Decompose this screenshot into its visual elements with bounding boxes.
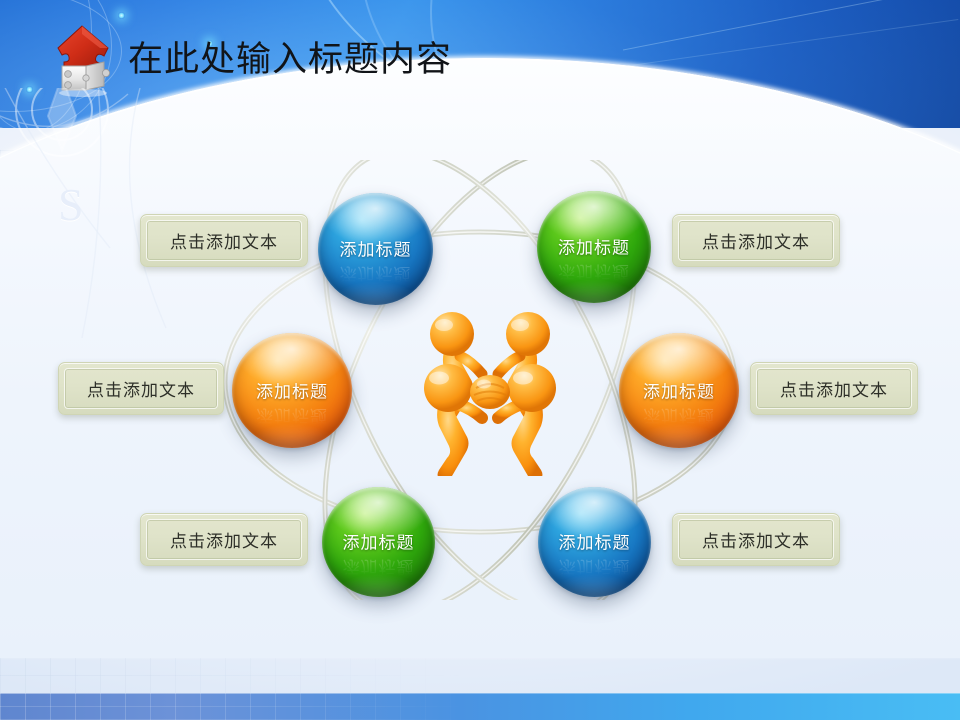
node-top-right-label-reflection: 添加标题 [537,261,651,286]
header-sparkle-2 [26,86,33,93]
header-arc-3 [430,0,960,128]
compass-letter-s: S [58,178,84,231]
plate-top-left-text: 点击添加文本 [170,228,278,253]
node-top-left-label: 添加标题 [318,236,433,261]
node-mid-left-label: 添加标题 [232,377,352,402]
node-top-right-label: 添加标题 [537,234,651,259]
footer-checker-pattern [0,693,470,720]
node-mid-right[interactable]: 添加标题 添加标题 [619,333,739,448]
node-top-left[interactable]: 添加标题 添加标题 [318,193,433,305]
node-bottom-right-label: 添加标题 [538,529,651,554]
plate-bottom-right[interactable]: 点击添加文本 [672,513,840,566]
node-top-right[interactable]: 添加标题 添加标题 [537,191,651,303]
plate-top-left[interactable]: 点击添加文本 [140,214,308,267]
plate-mid-right-text: 点击添加文本 [780,376,888,401]
slide-footer-bar [0,693,960,720]
plate-top-right-text: 点击添加文本 [702,228,810,253]
puzzle-house-icon [46,22,118,100]
node-bottom-right-label-reflection: 添加标题 [538,556,651,581]
node-bottom-left[interactable]: 添加标题 添加标题 [322,487,435,597]
plate-mid-right[interactable]: 点击添加文本 [750,362,918,415]
header-streak-2 [602,19,959,70]
node-bottom-left-label: 添加标题 [322,529,435,554]
node-mid-right-label-reflection: 添加标题 [619,405,739,430]
node-mid-right-label: 添加标题 [619,377,739,402]
plate-bottom-left[interactable]: 点击添加文本 [140,513,308,566]
plate-mid-left-text: 点击添加文本 [87,376,195,401]
node-bottom-left-label-reflection: 添加标题 [322,556,435,581]
node-bottom-right[interactable]: 添加标题 添加标题 [538,487,651,597]
page-title: 在此处输入标题内容 [128,36,452,84]
header-streak-1 [623,0,947,50]
header-sparkle-1 [118,12,125,19]
node-mid-left[interactable]: 添加标题 添加标题 [232,333,352,448]
node-top-left-label-reflection: 添加标题 [318,263,433,288]
plate-bottom-right-text: 点击添加文本 [702,527,810,552]
plate-top-right[interactable]: 点击添加文本 [672,214,840,267]
plate-bottom-left-text: 点击添加文本 [170,527,278,552]
teamwork-figures-graphic [400,296,580,476]
slide-canvas: 在此处输入标题内容 S [0,0,960,720]
plate-mid-left[interactable]: 点击添加文本 [58,362,224,415]
node-mid-left-label-reflection: 添加标题 [232,405,352,430]
